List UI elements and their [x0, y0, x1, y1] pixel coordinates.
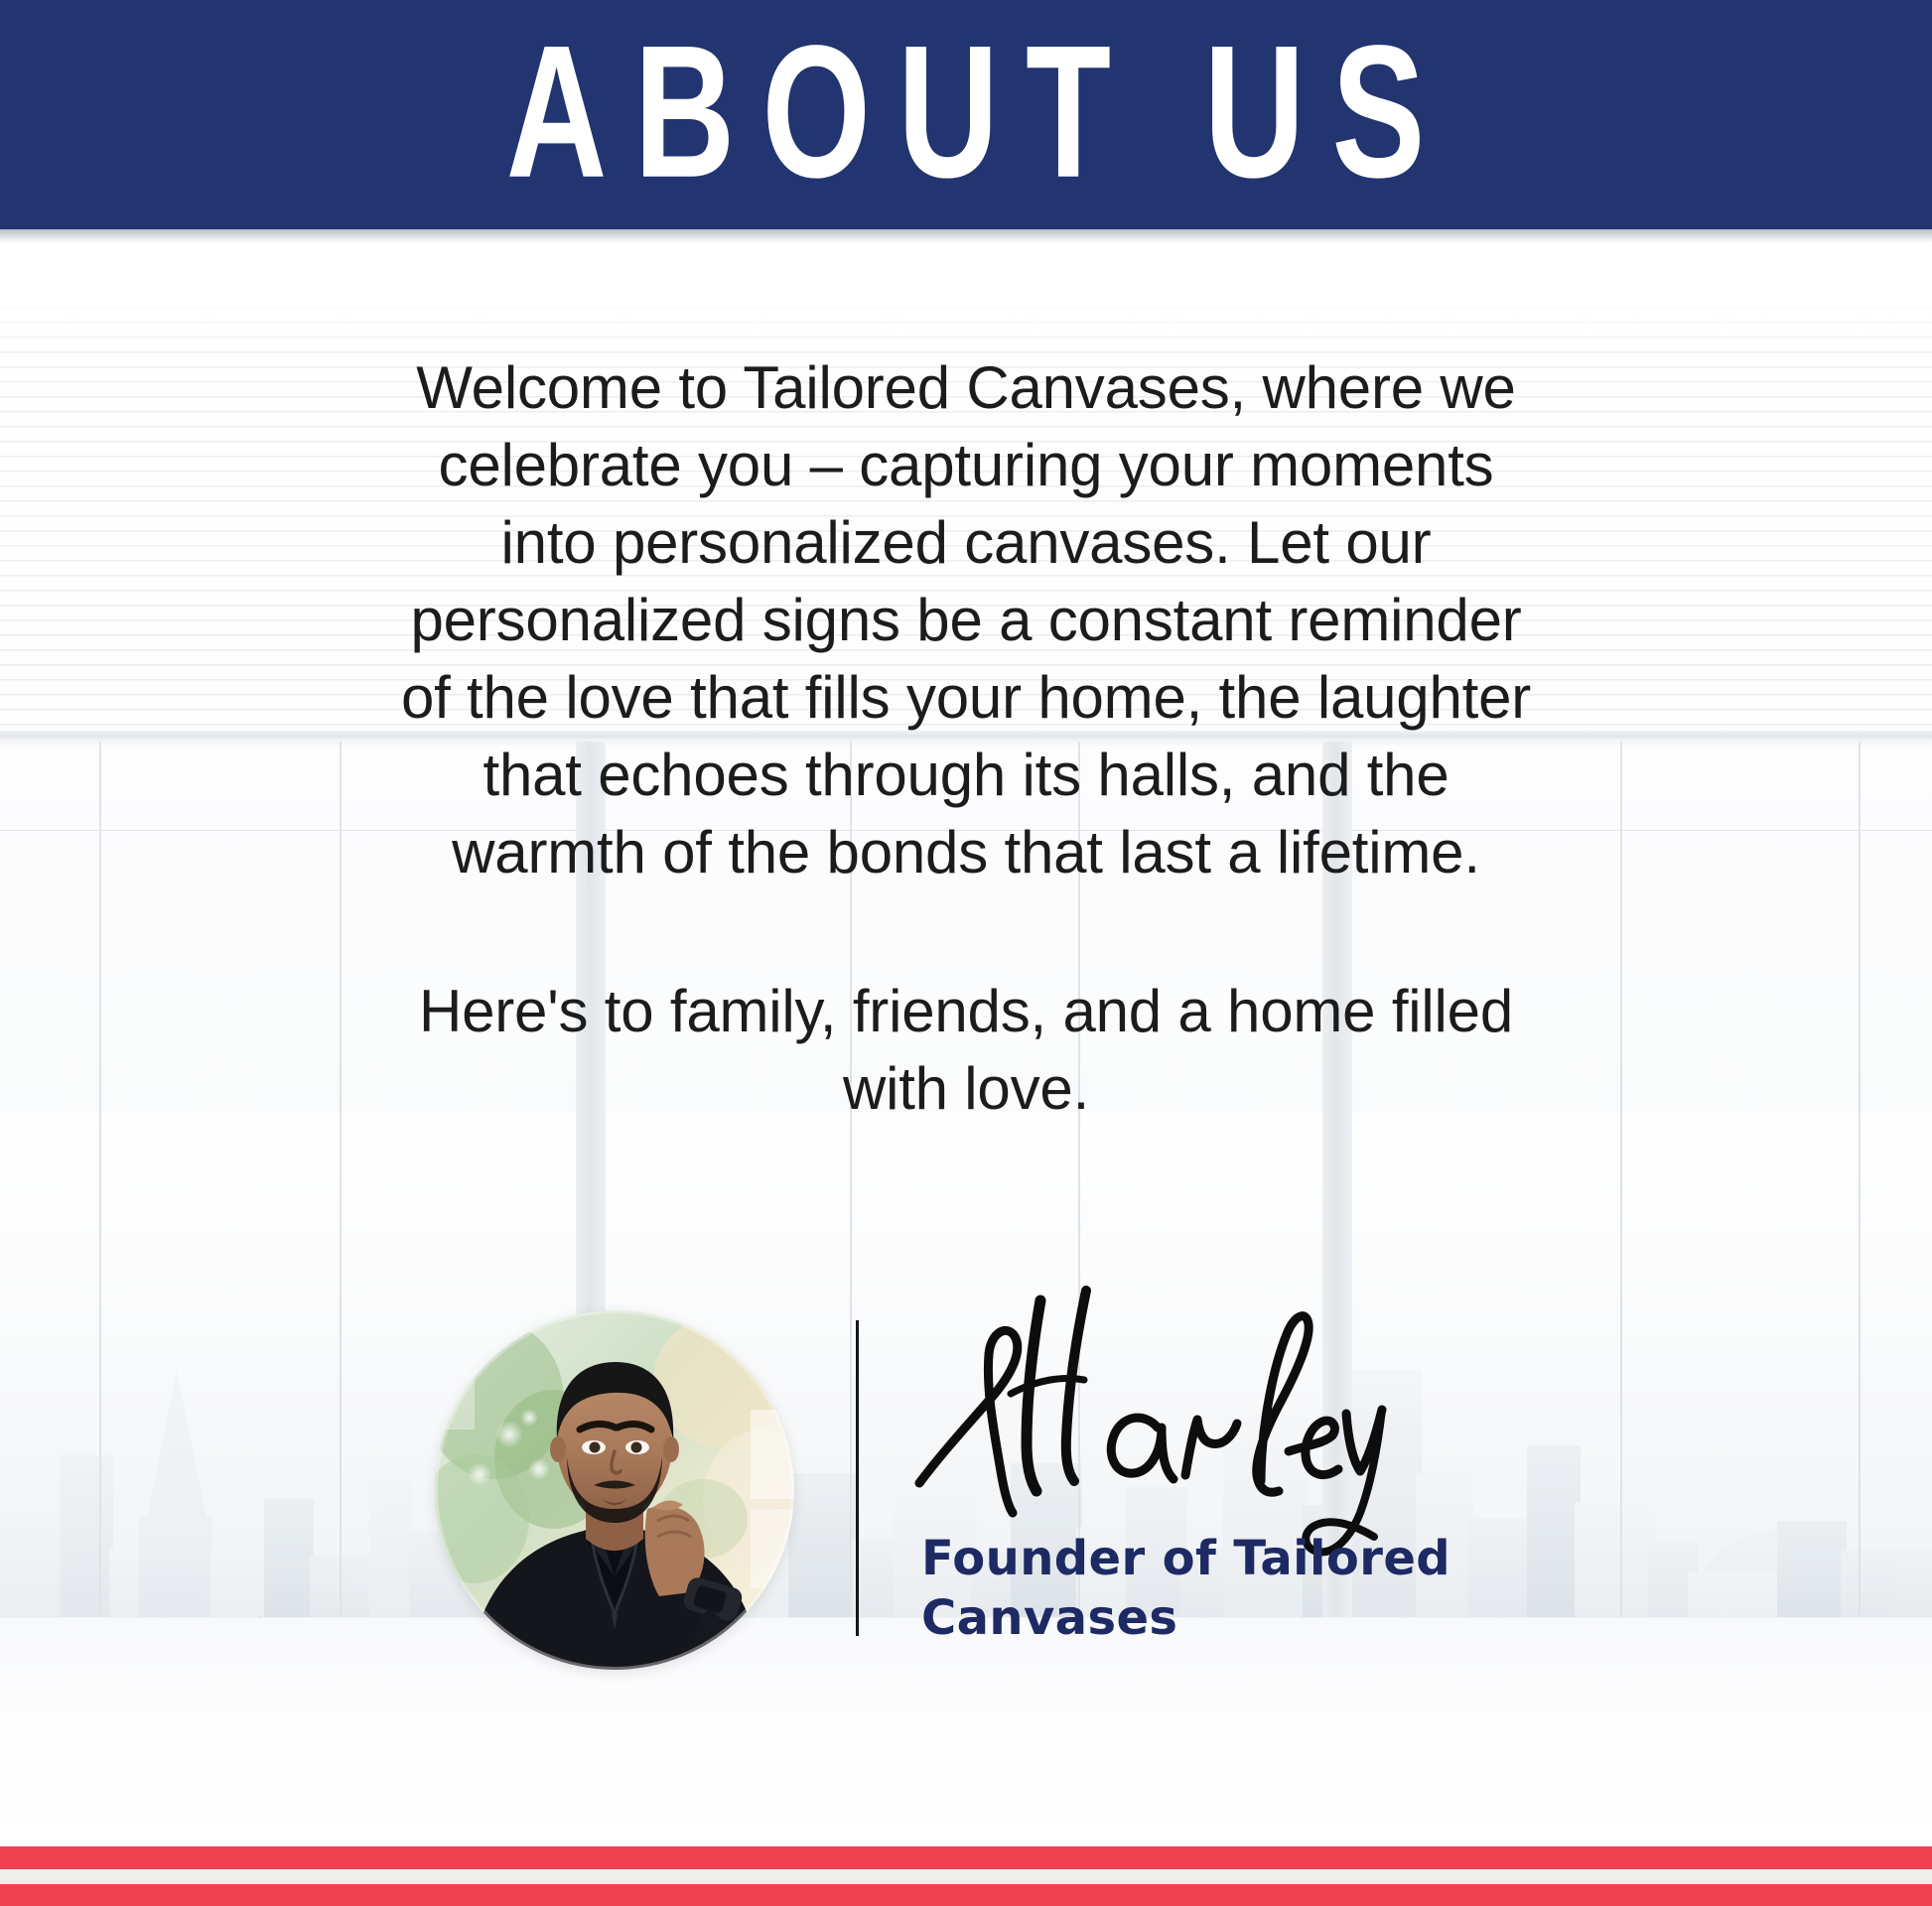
- paragraph-line: into personalized canvases. Let our: [380, 504, 1552, 582]
- signature-role: Founder of Tailored Canvases: [921, 1529, 1517, 1648]
- paragraph-line: that echoes through its halls, and the: [380, 737, 1552, 814]
- paragraph-line: personalized signs be a constant reminde…: [380, 582, 1552, 659]
- page-header: ABOUT US: [0, 0, 1932, 229]
- signature-name-block: Founder of Tailored Canvases: [856, 1298, 1610, 1696]
- paragraph-line: Welcome to Tailored Canvases, where we: [380, 349, 1552, 427]
- paragraph-line: Here's to family, friends, and a home fi…: [380, 973, 1552, 1050]
- signature-block: Founder of Tailored Canvases: [0, 1298, 1932, 1696]
- signature-script: [892, 1277, 1448, 1565]
- page-title: ABOUT US: [480, 17, 1452, 205]
- paragraph-line: celebrate you – capturing your moments: [380, 427, 1552, 504]
- about-body-copy: Welcome to Tailored Canvases, where we c…: [380, 349, 1552, 1128]
- paragraph-line: with love.: [380, 1050, 1552, 1128]
- signature-role-line-2: Canvases: [921, 1588, 1517, 1648]
- blinds-top-fade: [0, 232, 1932, 361]
- footer-stripe-gap: [0, 1869, 1932, 1884]
- paragraph-line: of the love that fills your home, the la…: [380, 659, 1552, 737]
- about-us-page: ABOUT US Welcome to Tailored Canvases, w…: [0, 0, 1932, 1906]
- paragraph-spacer: [380, 891, 1552, 973]
- footer-stripe-top: [0, 1846, 1932, 1869]
- signature-divider: [856, 1320, 859, 1636]
- avatar: [435, 1310, 794, 1670]
- paragraph-line: warmth of the bonds that last a lifetime…: [380, 814, 1552, 891]
- signature-role-line-1: Founder of Tailored: [921, 1529, 1517, 1588]
- footer-stripe-bottom: [0, 1884, 1932, 1906]
